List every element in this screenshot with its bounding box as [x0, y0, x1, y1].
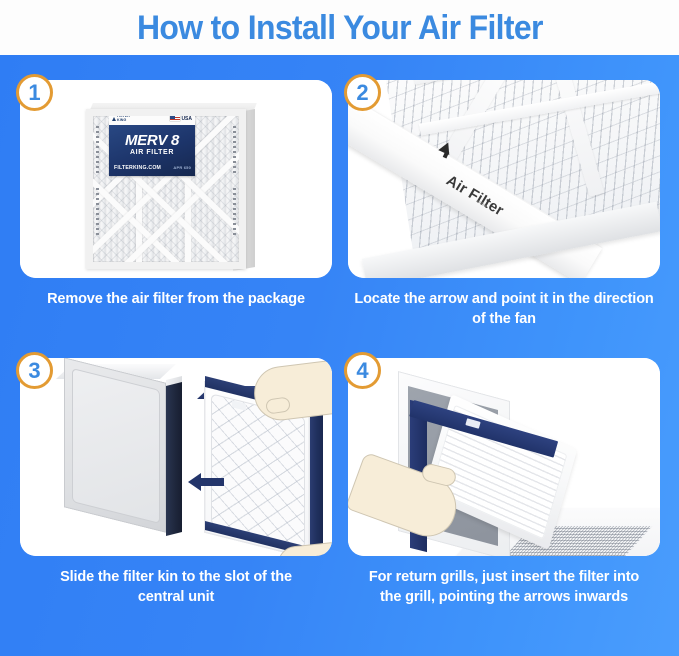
filter-sliding-into-central-unit-illustration [20, 358, 332, 556]
step-3: 3 Slide the filter kin to the slot of th… [20, 358, 332, 648]
steps-grid: FILTERKING MADE IN USA [0, 55, 679, 656]
filter-front-frame: FILTERKING MADE IN USA [86, 109, 246, 269]
filter-vent-marks [96, 126, 99, 174]
step-3-number-badge: 3 [16, 352, 53, 389]
filter-vent-marks [233, 188, 236, 236]
step-2: Air Filter airflow 2 Locate the arrow an… [348, 80, 660, 365]
step-1: FILTERKING MADE IN USA [20, 80, 332, 365]
usa-flag-icon [170, 115, 180, 121]
filter-vent-marks [96, 188, 99, 236]
filter-photo: FILTERKING MADE IN USA [86, 105, 254, 273]
step-3-caption: Slide the filter kin to the slot of the … [36, 568, 316, 607]
step-3-card [20, 358, 332, 556]
air-filter-text: AIR FILTER [109, 149, 195, 156]
unit-inner-panel [72, 368, 160, 524]
step-4: 4 For return grills, just insert the fil… [348, 358, 660, 648]
step-2-number-badge: 2 [344, 74, 381, 111]
unit-slot-dark [166, 382, 182, 536]
product-label: MERV 8 AIR FILTER FILTERKING.COM APR 650 [109, 120, 195, 176]
filter-king-logo: FILTERKING [112, 115, 130, 123]
merv-rating-text: MERV 8 [109, 133, 195, 148]
boxed-merv8-air-filter-photo: FILTERKING MADE IN USA [20, 80, 332, 278]
air-filter-corner-with-airflow-arrow-photo: Air Filter airflow [348, 80, 660, 278]
apr-rating-text: APR 650 [173, 165, 191, 170]
crown-icon [112, 117, 116, 121]
usa-text: USA [181, 117, 192, 122]
filter-vent-marks [233, 126, 236, 174]
title-band: How to Install Your Air Filter [0, 0, 679, 55]
left-arrow-insert-direction [188, 473, 224, 491]
made-in-usa-mark: MADE IN USA [170, 115, 192, 122]
infographic-page: How to Install Your Air Filter [0, 0, 679, 656]
brand-line-2: KING [117, 118, 126, 122]
step-1-caption: Remove the air filter from the package [20, 290, 332, 310]
step-4-caption: For return grills, just insert the filte… [364, 568, 644, 607]
filter-side-edge [309, 406, 323, 556]
page-title: How to Install Your Air Filter [137, 11, 543, 45]
step-1-card: FILTERKING MADE IN USA [20, 80, 332, 278]
step-4-number-badge: 4 [344, 352, 381, 389]
step-1-number-badge: 1 [16, 74, 53, 111]
step-2-caption: Locate the arrow and point it in the dir… [354, 290, 654, 329]
brand-website-text: FILTERKING.COM [114, 165, 161, 171]
hand-upper [251, 359, 332, 424]
step-4-card [348, 358, 660, 556]
filter-inserted-into-return-grill-illustration [348, 358, 660, 556]
step-2-card: Air Filter airflow [348, 80, 660, 278]
product-label-header: FILTERKING MADE IN USA [109, 112, 195, 125]
